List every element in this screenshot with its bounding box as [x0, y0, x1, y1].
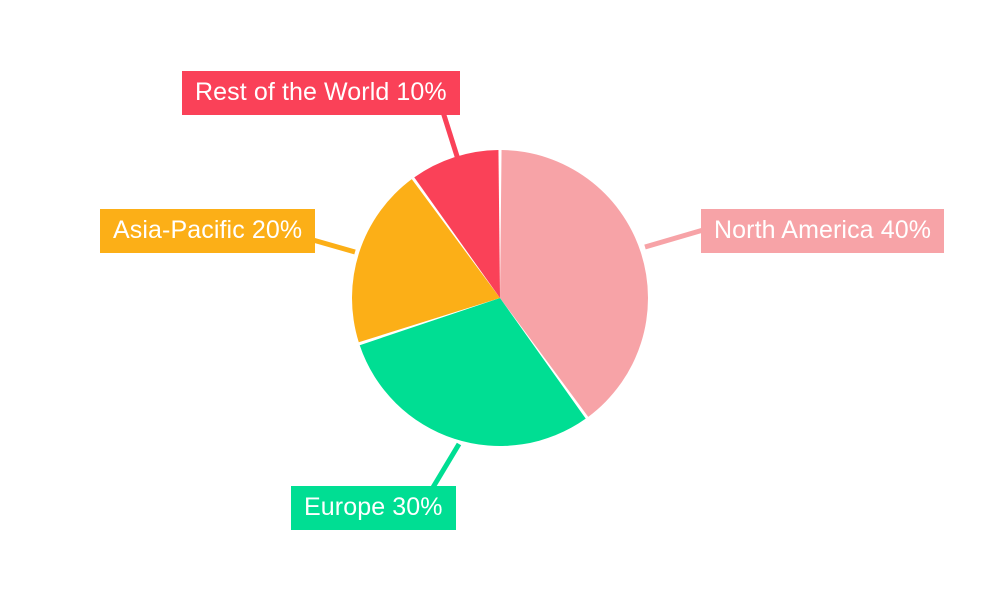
pie-chart-figure: North America 40% Europe 30% Asia-Pacifi… — [0, 0, 1000, 600]
pie-label-rest-of-world-text: Rest of the World 10% — [195, 80, 447, 105]
pie-label-europe-text: Europe 30% — [304, 495, 443, 520]
pie-chart-canvas — [0, 0, 1000, 600]
pie-label-north-america-text: North America 40% — [714, 218, 931, 243]
pie-label-europe[interactable]: Europe 30% — [291, 486, 456, 530]
leader-line-europe — [432, 444, 459, 489]
pie-label-asia-pacific[interactable]: Asia-Pacific 20% — [100, 209, 315, 253]
pie-slices — [352, 150, 648, 446]
pie-label-north-america[interactable]: North America 40% — [701, 209, 944, 253]
pie-label-rest-of-world[interactable]: Rest of the World 10% — [182, 71, 460, 115]
pie-label-asia-pacific-text: Asia-Pacific 20% — [113, 218, 302, 243]
